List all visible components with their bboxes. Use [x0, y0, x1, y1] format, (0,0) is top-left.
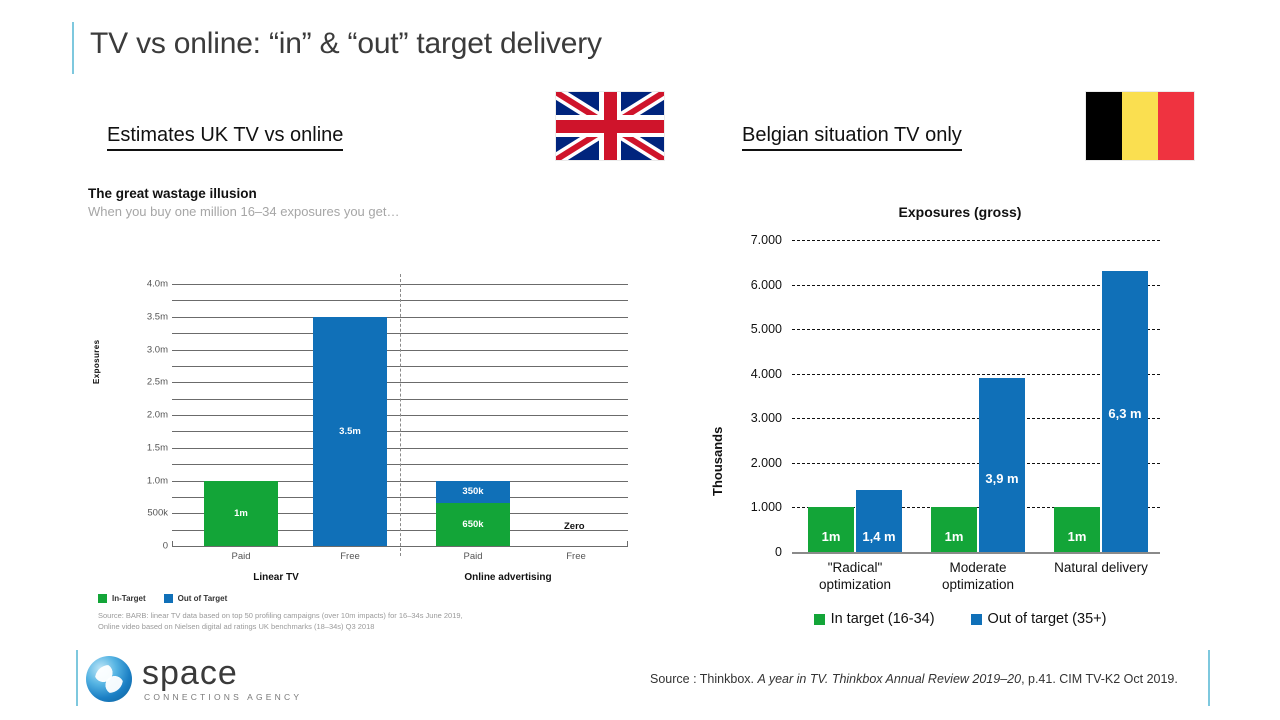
- legend-item-out-of-target: Out of target (35+): [971, 611, 1107, 627]
- y-tick: 3.0m: [147, 344, 168, 355]
- x-tick-label: Paid: [231, 551, 250, 562]
- zero-annotation: Zero: [564, 521, 585, 532]
- section-heading-uk: Estimates UK TV vs online: [107, 124, 343, 151]
- bar-online-paid: 650k 350k: [436, 481, 510, 547]
- group-label-online: Online advertising: [464, 572, 551, 583]
- x-tick-label: Free: [566, 551, 586, 562]
- belgium-flag-icon: [1086, 92, 1194, 160]
- bar-radical-out-of-target: 1,4 m: [856, 490, 902, 552]
- left-chart-plot-area: Exposures 4.0m 3.5m 3.0m 2.5m 2.0m 1.5m …: [88, 234, 648, 554]
- y-tick: 0: [163, 541, 168, 552]
- title-accent-rule: [72, 22, 74, 74]
- x-category-natural: Natural delivery: [1054, 560, 1148, 577]
- y-tick: 2.000: [751, 456, 782, 470]
- y-tick: 500k: [147, 508, 168, 519]
- bar-linear-tv-paid: 1m: [204, 481, 278, 547]
- y-tick: 6.000: [751, 278, 782, 292]
- bar-segment-out-of-target: 3.5m: [313, 317, 387, 546]
- right-chart-legend: In target (16-34) Out of target (35+): [700, 611, 1220, 627]
- x-tick-label: Paid: [463, 551, 482, 562]
- y-tick: 3.000: [751, 411, 782, 425]
- source-line-2: Online video based on Nielsen digital ad…: [98, 622, 463, 633]
- y-tick: 5.000: [751, 322, 782, 336]
- legend-label: Out of Target: [178, 594, 228, 603]
- y-tick: 7.000: [751, 233, 782, 247]
- footer-accent-rule-left: [76, 650, 78, 706]
- footer-accent-rule-right: [1208, 650, 1210, 706]
- source-suffix: , p.41. CIM TV-K2 Oct 2019.: [1021, 672, 1178, 686]
- source-line-1: Source: BARB: linear TV data based on to…: [98, 611, 463, 622]
- y-tick: 3.5m: [147, 311, 168, 322]
- space-logo: space CONNECTIONS AGENCY: [86, 652, 336, 708]
- bar-segment-in-target: 650k: [436, 503, 510, 546]
- legend-item-in-target: In target (16-34): [814, 611, 935, 627]
- left-chart-y-ticks: 4.0m 3.5m 3.0m 2.5m 2.0m 1.5m 1.0m 500k …: [106, 284, 168, 546]
- bar-segment-out-of-target: 350k: [436, 481, 510, 504]
- legend-swatch-blue: [164, 594, 173, 603]
- section-heading-belgium: Belgian situation TV only: [742, 124, 962, 151]
- group-label-linear-tv: Linear TV: [253, 572, 299, 583]
- bar-moderate-in-target: 1m: [931, 507, 977, 552]
- left-chart-divider: [400, 274, 401, 556]
- bar-natural-out-of-target: 6,3 m: [1102, 271, 1148, 552]
- y-tick: 4.0m: [147, 279, 168, 290]
- page-title: TV vs online: “in” & “out” target delive…: [90, 27, 990, 61]
- x-tick-label: Free: [340, 551, 360, 562]
- y-tick: 2.5m: [147, 377, 168, 388]
- left-chart-legend: In-Target Out of Target: [98, 594, 227, 603]
- y-tick: 2.0m: [147, 410, 168, 421]
- x-category-moderate: Moderate optimization: [942, 560, 1014, 594]
- left-chart-source: Source: BARB: linear TV data based on to…: [98, 611, 463, 633]
- right-chart-title: Exposures (gross): [700, 204, 1220, 220]
- bar-radical-in-target: 1m: [808, 507, 854, 552]
- bar-linear-tv-free: 3.5m: [313, 317, 387, 546]
- left-chart-title: The great wastage illusion: [88, 186, 648, 201]
- left-chart-y-axis-label: Exposures: [92, 339, 101, 384]
- x-category-radical: "Radical" optimization: [819, 560, 891, 594]
- y-tick: 1.5m: [147, 442, 168, 453]
- chart-belgium-exposures: Exposures (gross) Thousands 7.000 6.000 …: [700, 196, 1220, 646]
- legend-swatch-blue: [971, 614, 982, 625]
- slide-canvas: TV vs online: “in” & “out” target delive…: [0, 0, 1280, 720]
- right-chart-x-axis: [792, 552, 1160, 554]
- y-tick: 0: [775, 545, 782, 559]
- legend-item-in-target: In-Target: [98, 594, 146, 603]
- globe-icon: [86, 656, 132, 702]
- right-chart-bars: 1m 1,4 m 1m 3,9 m 1m 6,3 m: [792, 240, 1160, 552]
- source-prefix: Source : Thinkbox.: [650, 672, 754, 686]
- legend-label: Out of target (35+): [988, 611, 1107, 627]
- chart-uk-wastage: The great wastage illusion When you buy …: [88, 186, 648, 636]
- legend-swatch-green: [814, 614, 825, 625]
- footer-source: Source : Thinkbox. A year in TV. Thinkbo…: [650, 672, 1178, 686]
- source-citation: A year in TV. Thinkbox Annual Review 201…: [757, 672, 1021, 686]
- y-tick: 1.000: [751, 500, 782, 514]
- logo-wordmark: space: [142, 654, 238, 693]
- left-chart-subtitle: When you buy one million 16–34 exposures…: [88, 204, 648, 219]
- legend-swatch-green: [98, 594, 107, 603]
- logo-tagline: CONNECTIONS AGENCY: [144, 692, 302, 702]
- bar-segment-in-target: 1m: [204, 481, 278, 547]
- legend-label: In target (16-34): [831, 611, 935, 627]
- legend-item-out-of-target: Out of Target: [164, 594, 228, 603]
- gridline: [792, 240, 1160, 241]
- bar-moderate-out-of-target: 3,9 m: [979, 378, 1025, 552]
- bar-natural-in-target: 1m: [1054, 507, 1100, 552]
- right-chart-y-ticks: 7.000 6.000 5.000 4.000 3.000 2.000 1.00…: [720, 240, 782, 552]
- y-tick: 4.000: [751, 367, 782, 381]
- uk-flag-icon: [556, 92, 664, 160]
- y-tick: 1.0m: [147, 475, 168, 486]
- legend-label: In-Target: [112, 594, 146, 603]
